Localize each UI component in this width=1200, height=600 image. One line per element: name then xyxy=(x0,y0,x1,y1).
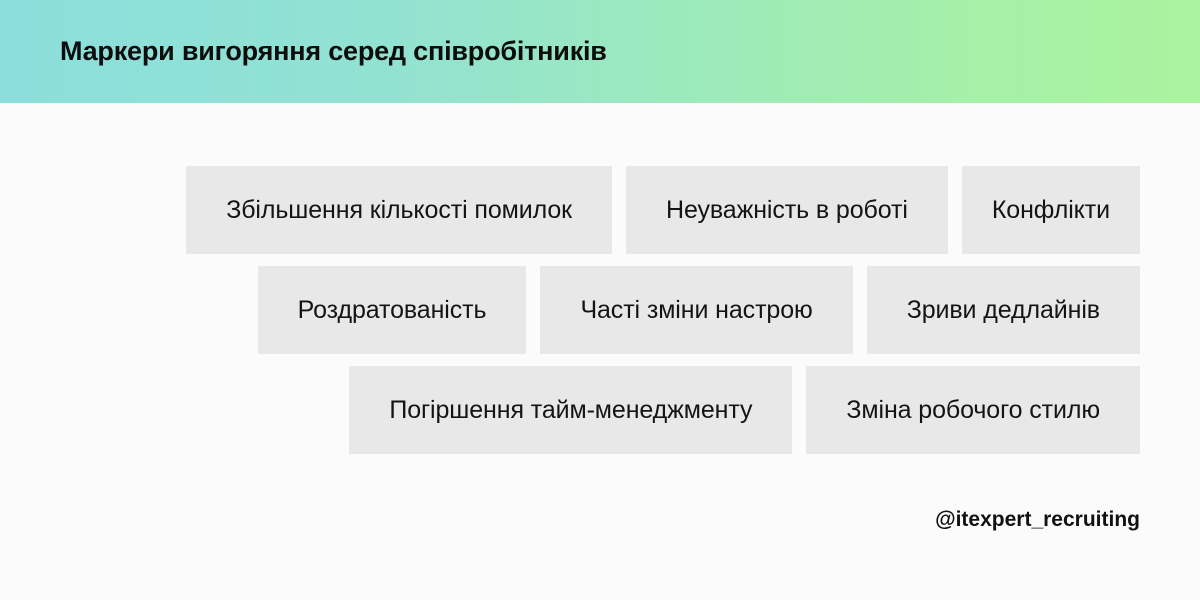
tag-label: Збільшення кількості помилок xyxy=(226,196,572,225)
tag-item: Зриви дедлайнів xyxy=(867,266,1140,354)
header-gradient-band: Маркери вигоряння серед співробітників xyxy=(0,0,1200,103)
tag-label: Роздратованість xyxy=(298,296,487,325)
tag-label: Неуважність в роботі xyxy=(666,196,908,225)
tag-item: Зміна робочого стилю xyxy=(806,366,1140,454)
tag-item: Часті зміни настрою xyxy=(540,266,852,354)
tag-item: Погіршення тайм-менеджменту xyxy=(349,366,792,454)
tag-label: Зміна робочого стилю xyxy=(846,396,1100,425)
tag-label: Часті зміни настрою xyxy=(580,296,812,325)
tag-label: Погіршення тайм-менеджменту xyxy=(389,396,752,425)
burnout-markers-list: Збільшення кількості помилок Неуважність… xyxy=(60,166,1140,466)
page-title: Маркери вигоряння серед співробітників xyxy=(60,0,607,103)
slide-canvas: Маркери вигоряння серед співробітників З… xyxy=(0,0,1200,600)
tag-item: Конфлікти xyxy=(962,166,1140,254)
tag-label: Конфлікти xyxy=(992,196,1110,225)
tag-row: Збільшення кількості помилок Неуважність… xyxy=(60,166,1140,254)
account-handle: @itexpert_recruiting xyxy=(935,508,1140,532)
tag-label: Зриви дедлайнів xyxy=(907,296,1100,325)
tag-item: Роздратованість xyxy=(258,266,527,354)
tag-row: Погіршення тайм-менеджменту Зміна робочо… xyxy=(60,366,1140,454)
tag-item: Неуважність в роботі xyxy=(626,166,948,254)
tag-row: Роздратованість Часті зміни настрою Зрив… xyxy=(60,266,1140,354)
tag-item: Збільшення кількості помилок xyxy=(186,166,612,254)
